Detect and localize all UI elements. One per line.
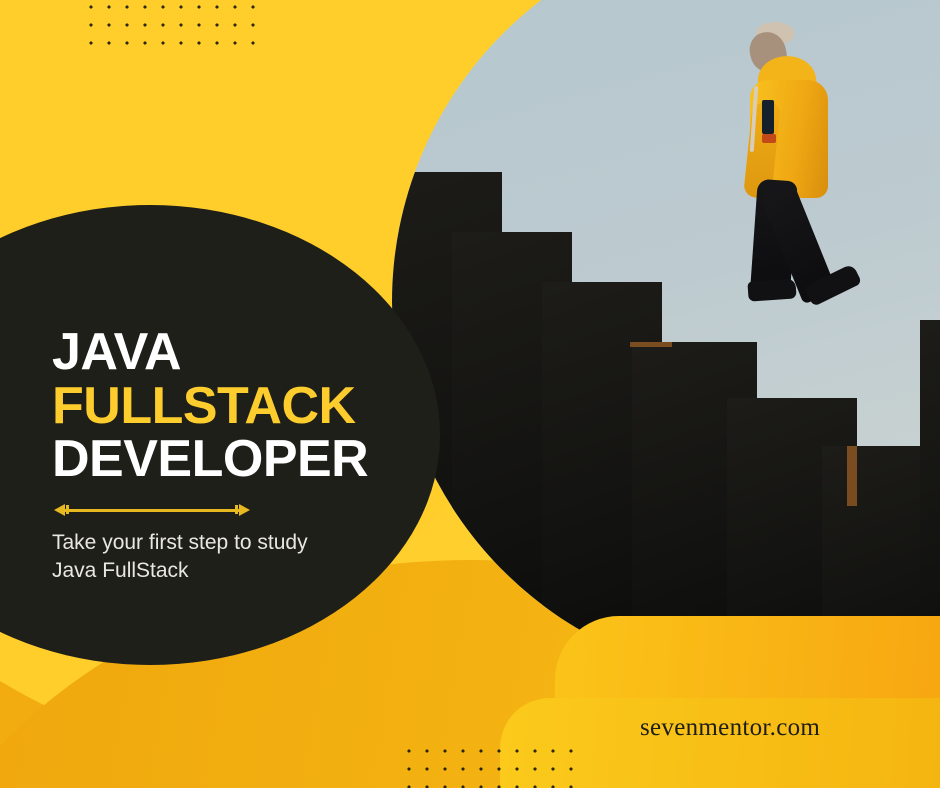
- dot-grid-bottom-icon: [398, 740, 580, 788]
- subtitle-line-1: Take your first step to study: [52, 529, 382, 557]
- subtitle-line-2: Java FullStack: [52, 557, 382, 585]
- headline-block: JAVA FULLSTACK DEVELOPER Take your first…: [52, 326, 382, 585]
- person-hoodie-graphic-accent: [762, 134, 776, 143]
- headline-line-1: JAVA: [52, 326, 382, 380]
- poster-canvas: JAVA FULLSTACK DEVELOPER Take your first…: [0, 0, 940, 788]
- divider-pip-right-icon: [235, 505, 238, 514]
- headline-line-2: FULLSTACK: [52, 380, 382, 434]
- person-hoodie-graphic: [762, 100, 774, 134]
- divider-tip-right-icon: [239, 504, 250, 516]
- dot-grid-top-icon: [80, 0, 258, 58]
- photo-person: [714, 22, 894, 322]
- divider-rule: [64, 509, 240, 512]
- headline-line-3: DEVELOPER: [52, 433, 382, 487]
- stone-sunlit-edge: [630, 342, 672, 347]
- ornamental-divider-icon: [54, 503, 250, 517]
- person-shoe-back: [747, 278, 796, 301]
- website-url[interactable]: sevenmentor.com: [640, 714, 820, 742]
